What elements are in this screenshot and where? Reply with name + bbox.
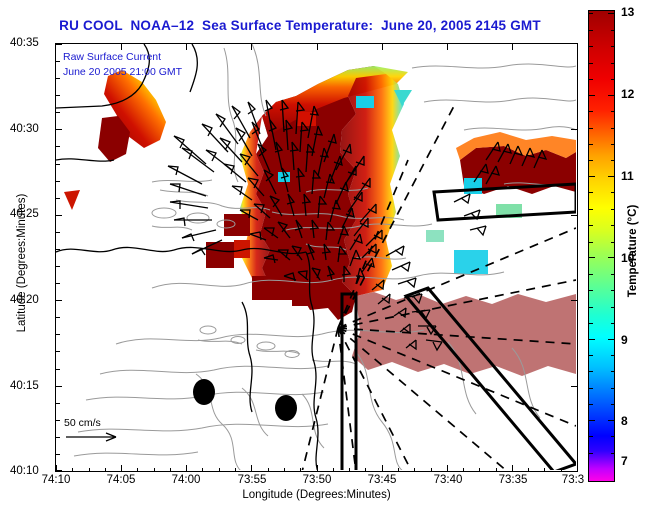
x-tick-label: 73:3 (562, 474, 584, 486)
y-tick-label: 40:30 (10, 123, 39, 135)
x-tick-label: 74:00 (172, 474, 201, 486)
velocity-scale-label: 50 cm/s (64, 417, 126, 429)
sst-raster-layer (56, 44, 576, 470)
colorbar (588, 10, 615, 482)
annotation-line-2: June 20 2005 21:00 GMT (63, 65, 182, 80)
velocity-scale-arrow-icon (64, 430, 126, 444)
figure-canvas: RU COOL NOAA–12 Sea Surface Temperature:… (0, 0, 651, 515)
map-plot-area: Raw Surface Current June 20 2005 21:00 G… (55, 43, 578, 472)
station-marker-1 (193, 379, 215, 405)
map-clip: Raw Surface Current June 20 2005 21:00 G… (56, 44, 577, 471)
colorbar-title: Temperature (°C) (627, 141, 639, 361)
colorbar-tick-label: 8 (621, 414, 628, 428)
x-tick-label: 74:05 (107, 474, 136, 486)
annotation-line-1: Raw Surface Current (63, 50, 182, 65)
x-tick-label: 73:40 (434, 474, 463, 486)
colorbar-tick-label: 12 (621, 87, 634, 101)
sst-pixel-green-a (426, 230, 444, 242)
figure-title: RU COOL NOAA–12 Sea Surface Temperature:… (0, 18, 600, 33)
station-marker-2 (275, 395, 297, 421)
y-tick-label: 40:10 (10, 465, 39, 477)
sst-pixel-cyan-d (454, 250, 488, 274)
sst-pixel-d (224, 214, 250, 236)
y-tick-label: 40:15 (10, 380, 39, 392)
x-tick-label: 73:50 (303, 474, 332, 486)
y-axis-title: Latitude (Degrees:Minutes) (16, 153, 28, 373)
x-axis-title: Longitude (Degrees:Minutes) (55, 489, 578, 501)
x-tick-label: 74:10 (42, 474, 71, 486)
sst-pixel-a (64, 190, 80, 210)
y-tick-label: 40:35 (10, 37, 39, 49)
sst-pixel-f (252, 276, 292, 300)
sst-pixel-cyan-a (356, 96, 374, 108)
current-annotation: Raw Surface Current June 20 2005 21:00 G… (63, 50, 182, 80)
velocity-scale: 50 cm/s (64, 417, 126, 449)
x-tick-label: 73:55 (238, 474, 267, 486)
x-tick-label: 73:45 (368, 474, 397, 486)
colorbar-tick-label: 7 (621, 454, 628, 468)
x-tick-label: 73:35 (499, 474, 528, 486)
colorbar-tick-label: 13 (621, 5, 634, 19)
